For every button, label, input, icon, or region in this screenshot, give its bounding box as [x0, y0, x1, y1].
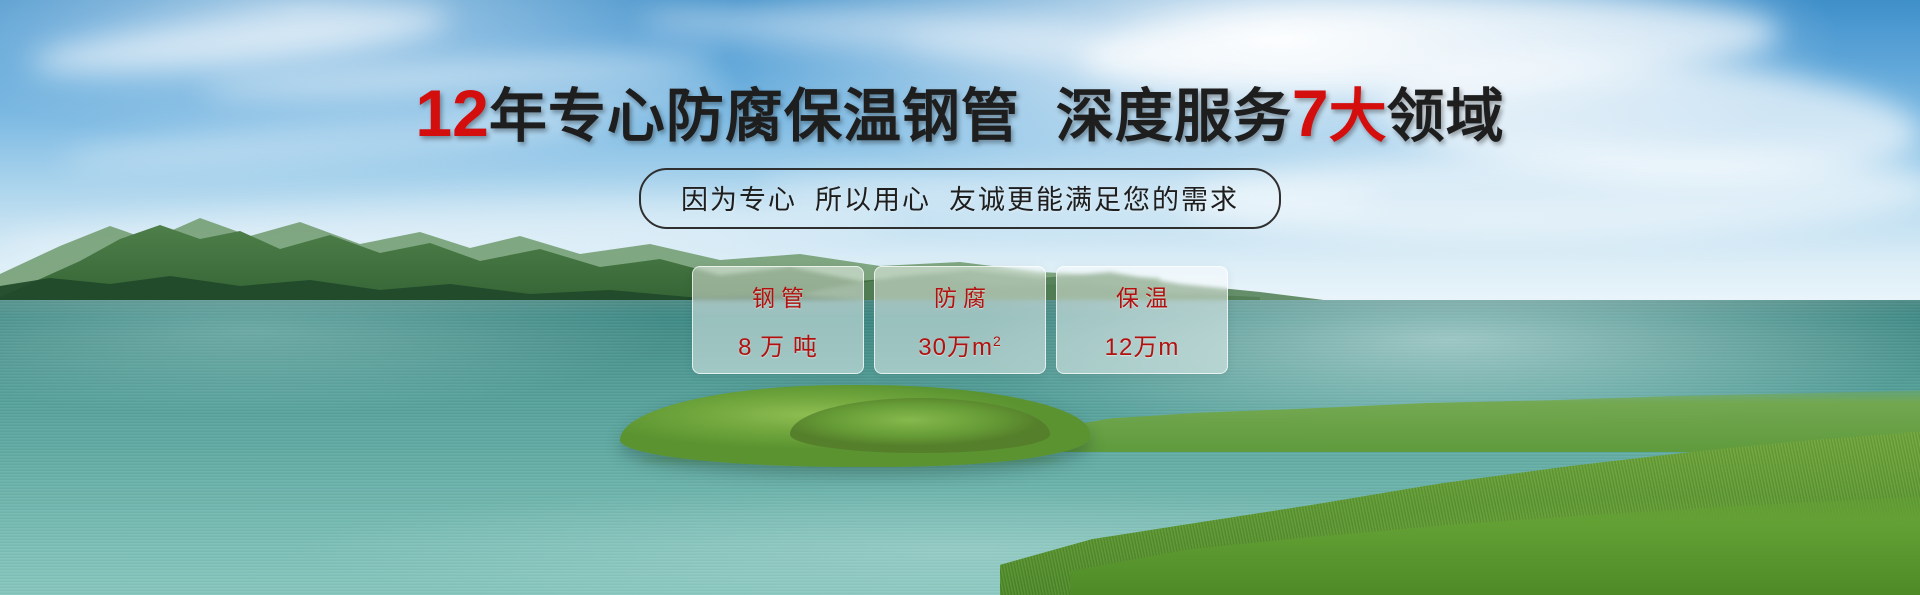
- stat-card-label: 防腐: [928, 279, 992, 313]
- stat-card-value-text: 12万m: [1105, 334, 1180, 361]
- cloud-icon: [900, 28, 1241, 78]
- headline-mid-text: 深度服务: [1056, 84, 1292, 149]
- subtitle-part-2: 所以用心: [815, 185, 931, 215]
- headline-accent-unit: 大: [1329, 84, 1387, 149]
- stat-card-steel-pipe[interactable]: 钢管 8 万 吨: [692, 266, 864, 374]
- stat-card-value: 8 万 吨: [738, 327, 818, 362]
- subtitle-pill: 因为专心所以用心友诚更能满足您的需求: [639, 168, 1281, 229]
- stat-card-anticorrosion[interactable]: 防腐 30万m2: [874, 266, 1046, 374]
- cloud-icon: [639, 0, 1100, 56]
- stat-card-list: 钢管 8 万 吨 防腐 30万m2 保温 12万m: [0, 266, 1920, 374]
- stat-card-value-text: 30万m: [918, 334, 993, 361]
- sky-background: [0, 0, 1920, 300]
- stat-card-value: 12万m: [1105, 327, 1180, 362]
- stat-card-insulation[interactable]: 保温 12万m: [1056, 266, 1228, 374]
- subtitle-part-1: 因为专心: [681, 185, 797, 215]
- stat-card-label: 钢管: [746, 279, 810, 313]
- stat-card-value: 30万m2: [918, 327, 1001, 362]
- stat-card-label: 保温: [1110, 279, 1174, 313]
- headline-lead-tail: 年专心防腐保温钢管: [489, 84, 1020, 149]
- stat-card-value-text: 8 万 吨: [738, 334, 818, 361]
- hero-banner: 12年专心防腐保温钢管深度服务7大领域 因为专心所以用心友诚更能满足您的需求 钢…: [0, 0, 1920, 595]
- headline-tail-text: 领域: [1387, 84, 1505, 149]
- headline-lead-number: 12: [415, 76, 488, 150]
- stat-card-value-exponent: 2: [993, 333, 1002, 349]
- cloud-icon: [29, 0, 452, 86]
- headline: 12年专心防腐保温钢管深度服务7大领域: [0, 82, 1920, 148]
- subtitle-container: 因为专心所以用心友诚更能满足您的需求: [0, 168, 1920, 229]
- headline-accent-number: 7: [1292, 76, 1329, 150]
- subtitle-part-3: 友诚更能满足您的需求: [949, 185, 1239, 215]
